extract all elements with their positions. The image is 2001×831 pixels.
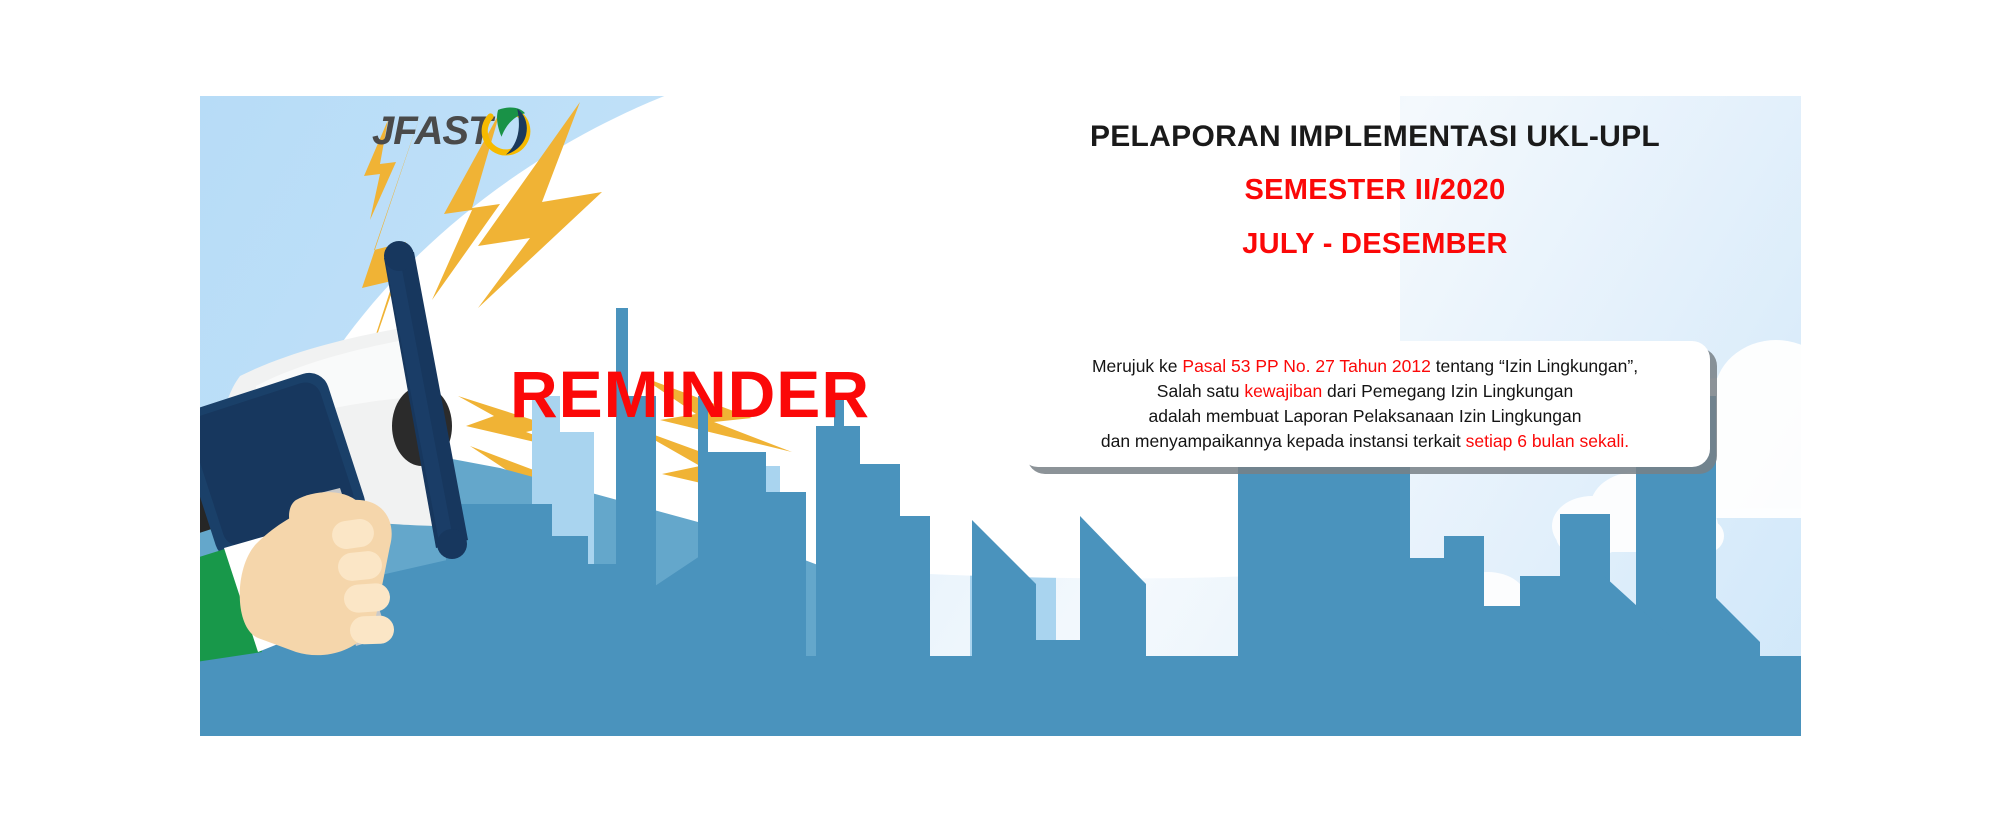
jfast-logo[interactable]: JFAST <box>372 102 532 164</box>
semester-label: SEMESTER II/2020 <box>1000 175 1750 207</box>
period-label: JULY - DESEMBER <box>1000 229 1750 261</box>
callout-line-4: dan menyampaikannya kepada instansi terk… <box>1036 429 1694 454</box>
callout-line-2: Salah satu kewajiban dari Pemegang Izin … <box>1036 379 1694 404</box>
regulation-callout-box: Merujuk ke Pasal 53 PP No. 27 Tahun 2012… <box>1020 341 1710 467</box>
page-title: PELAPORAN IMPLEMENTASI UKL-UPL <box>1000 120 1750 153</box>
callout-line-1: Merujuk ke Pasal 53 PP No. 27 Tahun 2012… <box>1036 354 1694 379</box>
reminder-banner: JFAST REMINDER PELAPORAN IMPLEMENTASI UK… <box>200 96 1801 736</box>
callout-wrapper: Merujuk ke Pasal 53 PP No. 27 Tahun 2012… <box>1020 341 1710 467</box>
jfast-swoosh-logo-icon <box>478 102 534 158</box>
callout-line-3: adalah membuat Laporan Pelaksanaan Izin … <box>1036 404 1694 429</box>
logo-wordmark: JFAST <box>372 111 491 151</box>
headings-block: PELAPORAN IMPLEMENTASI UKL-UPL SEMESTER … <box>1000 120 1750 261</box>
banner-stage: JFAST REMINDER PELAPORAN IMPLEMENTASI UK… <box>0 0 2001 831</box>
highlight-obligation: kewajiban <box>1244 381 1322 401</box>
reminder-headline: REMINDER <box>410 361 970 427</box>
highlight-frequency: setiap 6 bulan sekali. <box>1466 431 1629 451</box>
highlight-regulation: Pasal 53 PP No. 27 Tahun 2012 <box>1182 356 1430 376</box>
